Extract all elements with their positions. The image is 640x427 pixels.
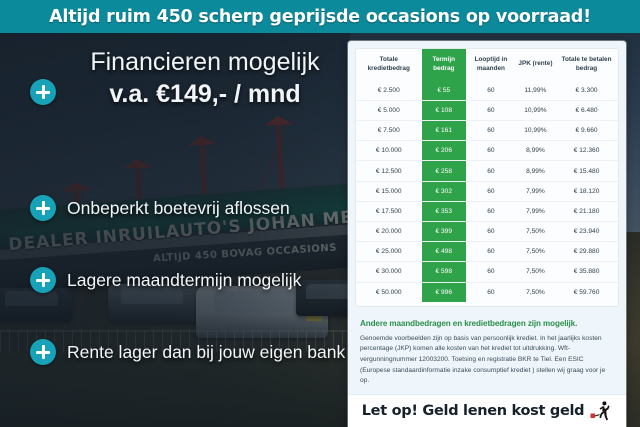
cell-apr: 7,99% — [516, 181, 555, 201]
cell-total-credit: € 2.500 — [356, 81, 422, 101]
table-header-row: Totale kredietbedrag Termijn bedrag Loop… — [356, 49, 618, 81]
cell-total-payable: € 35.880 — [555, 262, 618, 282]
cell-apr: 7,50% — [516, 221, 555, 241]
cell-total-payable: € 3.300 — [555, 81, 618, 101]
cell-installment: € 498 — [422, 242, 467, 262]
column-header-total-credit: Totale kredietbedrag — [356, 49, 422, 81]
table-row: € 25.000€ 498607,50%€ 29.880 — [356, 242, 618, 262]
cell-installment: € 55 — [422, 81, 467, 101]
table-row: € 12.500€ 258608,99%€ 15.480 — [356, 161, 618, 181]
credit-table-container: Totale kredietbedrag Termijn bedrag Loop… — [355, 48, 619, 307]
cell-installment: € 996 — [422, 282, 467, 302]
cell-duration: 60 — [466, 221, 516, 241]
cell-apr: 7,99% — [516, 201, 555, 221]
cell-total-payable: € 29.880 — [555, 242, 618, 262]
promo-banner-image: DEALER INRUILAUTO'S JOHAN MEURE ALTIJD 4… — [0, 0, 640, 427]
table-row: € 10.000€ 206608,99%€ 12.360 — [356, 141, 618, 161]
column-header-installment: Termijn bedrag — [422, 49, 467, 81]
cell-total-credit: € 10.000 — [356, 141, 422, 161]
credit-info-card: Totale kredietbedrag Termijn bedrag Loop… — [348, 41, 626, 427]
credit-examples-table: Totale kredietbedrag Termijn bedrag Loop… — [356, 49, 618, 302]
cell-total-payable: € 6.480 — [555, 100, 618, 120]
note-title: Andere maandbedragen en kredietbedragen … — [360, 319, 614, 328]
cell-duration: 60 — [466, 141, 516, 161]
cell-installment: € 161 — [422, 121, 467, 141]
table-row: € 50.000€ 996607,50%€ 59.760 — [356, 282, 618, 302]
column-header-apr: JPK (rente) — [516, 49, 555, 81]
cell-total-credit: € 50.000 — [356, 282, 422, 302]
headline-line-2: v.a. €149,- / mnd — [66, 81, 344, 108]
benefit-label: Lagere maandtermijn mogelijk — [67, 270, 301, 291]
cell-total-credit: € 12.500 — [356, 161, 422, 181]
table-row: € 15.000€ 302607,99%€ 18.120 — [356, 181, 618, 201]
cell-apr: 8,99% — [516, 141, 555, 161]
top-banner: Altijd ruim 450 scherp geprijsde occasio… — [0, 0, 640, 33]
cell-installment: € 206 — [422, 141, 467, 161]
cell-apr: 7,50% — [516, 282, 555, 302]
table-row: € 5.000€ 1086010,99%€ 6.480 — [356, 100, 618, 120]
plus-circle-icon — [30, 267, 56, 293]
cell-total-credit: € 25.000 — [356, 242, 422, 262]
warning-text: Let op! Geld lenen kost geld — [362, 403, 585, 419]
cell-installment: € 258 — [422, 161, 467, 181]
benefit-label: Onbeperkt boetevrij aflossen — [67, 198, 290, 219]
cell-duration: 60 — [466, 100, 516, 120]
cell-apr: 10,99% — [516, 100, 555, 120]
plus-circle-icon — [30, 339, 56, 365]
plus-circle-icon — [30, 79, 56, 105]
cell-duration: 60 — [466, 81, 516, 101]
table-body: € 2.500€ 556011,99%€ 3.300€ 5.000€ 10860… — [356, 81, 618, 302]
cell-apr: 8,99% — [516, 161, 555, 181]
cell-total-payable: € 9.660 — [555, 121, 618, 141]
top-banner-text: Altijd ruim 450 scherp geprijsde occasio… — [49, 7, 591, 27]
cell-total-payable: € 18.120 — [555, 181, 618, 201]
cell-total-credit: € 30.000 — [356, 262, 422, 282]
cell-total-payable: € 59.760 — [555, 282, 618, 302]
benefit-item-3: Rente lager dan bij jouw eigen bank — [30, 339, 350, 365]
cell-total-credit: € 7.500 — [356, 121, 422, 141]
cell-installment: € 353 — [422, 201, 467, 221]
table-row: € 17.500€ 353607,99%€ 21.180 — [356, 201, 618, 221]
benefit-label: Rente lager dan bij jouw eigen bank — [67, 342, 345, 363]
table-row: € 30.000€ 598607,50%€ 35.880 — [356, 262, 618, 282]
headline-line-1: Financieren mogelijk — [90, 48, 319, 76]
cell-installment: € 302 — [422, 181, 467, 201]
plus-circle-icon — [30, 195, 56, 221]
cell-total-payable: € 23.940 — [555, 221, 618, 241]
cell-total-credit: € 20.000 — [356, 221, 422, 241]
cell-total-payable: € 15.480 — [555, 161, 618, 181]
headline: Financieren mogelijk v.a. €149,- / mnd — [66, 49, 344, 107]
cell-installment: € 399 — [422, 221, 467, 241]
cell-duration: 60 — [466, 181, 516, 201]
cell-duration: 60 — [466, 262, 516, 282]
cell-apr: 7,50% — [516, 242, 555, 262]
cell-duration: 60 — [466, 201, 516, 221]
table-row: € 7.500€ 1616010,99%€ 9.660 — [356, 121, 618, 141]
cell-total-credit: € 5.000 — [356, 100, 422, 120]
cell-total-payable: € 12.360 — [555, 141, 618, 161]
note-body: Genoemde voorbeelden zijn op basis van p… — [360, 334, 614, 387]
warning-bar: Let op! Geld lenen kost geld — [348, 394, 626, 427]
column-header-duration: Looptijd in maanden — [466, 49, 516, 81]
cell-duration: 60 — [466, 282, 516, 302]
cell-installment: € 598 — [422, 262, 467, 282]
cell-duration: 60 — [466, 121, 516, 141]
cell-total-credit: € 15.000 — [356, 181, 422, 201]
cell-apr: 7,50% — [516, 262, 555, 282]
table-row: € 2.500€ 556011,99%€ 3.300 — [356, 81, 618, 101]
cell-apr: 10,99% — [516, 121, 555, 141]
cell-installment: € 108 — [422, 100, 467, 120]
column-header-total-payable: Totale te betalen bedrag — [555, 49, 618, 81]
cell-total-credit: € 17.500 — [356, 201, 422, 221]
cell-total-payable: € 21.180 — [555, 201, 618, 221]
table-row: € 20.000€ 399607,50%€ 23.940 — [356, 221, 618, 241]
benefit-item-1: Onbeperkt boetevrij aflossen — [30, 195, 350, 221]
left-content-column: Financieren mogelijk v.a. €149,- / mnd O… — [0, 33, 350, 427]
running-man-ball-and-chain-icon — [590, 400, 612, 422]
cell-apr: 11,99% — [516, 81, 555, 101]
cell-duration: 60 — [466, 161, 516, 181]
cell-duration: 60 — [466, 242, 516, 262]
benefit-item-2: Lagere maandtermijn mogelijk — [30, 267, 350, 293]
